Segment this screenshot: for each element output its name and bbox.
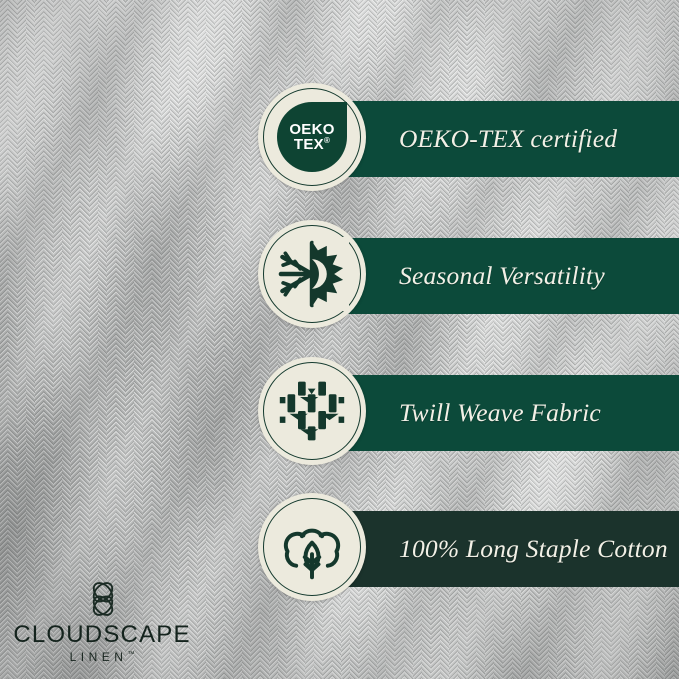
cotton-boll-icon	[258, 493, 366, 601]
feature-badge: OEKO TEX®	[258, 83, 366, 191]
feature-badge	[258, 220, 366, 328]
oeko-line-1: OEKO	[289, 122, 334, 137]
basket-weave-icon	[258, 357, 366, 465]
oeko-tex-logo-icon: OEKO TEX®	[258, 83, 366, 191]
feature-badge	[258, 493, 366, 601]
snowflake-sun-icon	[258, 220, 366, 328]
trademark-mark: ™	[127, 651, 134, 658]
brand-subtitle: LINEN™	[12, 650, 192, 664]
feature-label: Seasonal Versatility	[399, 238, 605, 314]
feature-row-seasonal-versatility: Seasonal Versatility	[0, 220, 679, 332]
feature-row-oeko-tex: OEKO-TEX certified OEKO TEX®	[0, 83, 679, 195]
feature-badge	[258, 357, 366, 465]
brand-logo: CLOUDSCAPE LINEN™	[12, 578, 192, 668]
feature-label: Twill Weave Fabric	[399, 375, 601, 451]
oeko-line-2: TEX	[294, 136, 324, 153]
feature-label: 100% Long Staple Cotton	[399, 511, 668, 587]
brand-name: CLOUDSCAPE	[12, 621, 192, 649]
registered-mark: ®	[324, 136, 330, 145]
four-petal-flower-icon	[82, 578, 124, 620]
feature-label: OEKO-TEX certified	[399, 101, 617, 177]
feature-row-twill-weave: Twill Weave Fabric	[0, 357, 679, 469]
product-feature-infographic: OEKO-TEX certified OEKO TEX® Seasonal Ve…	[0, 0, 679, 679]
